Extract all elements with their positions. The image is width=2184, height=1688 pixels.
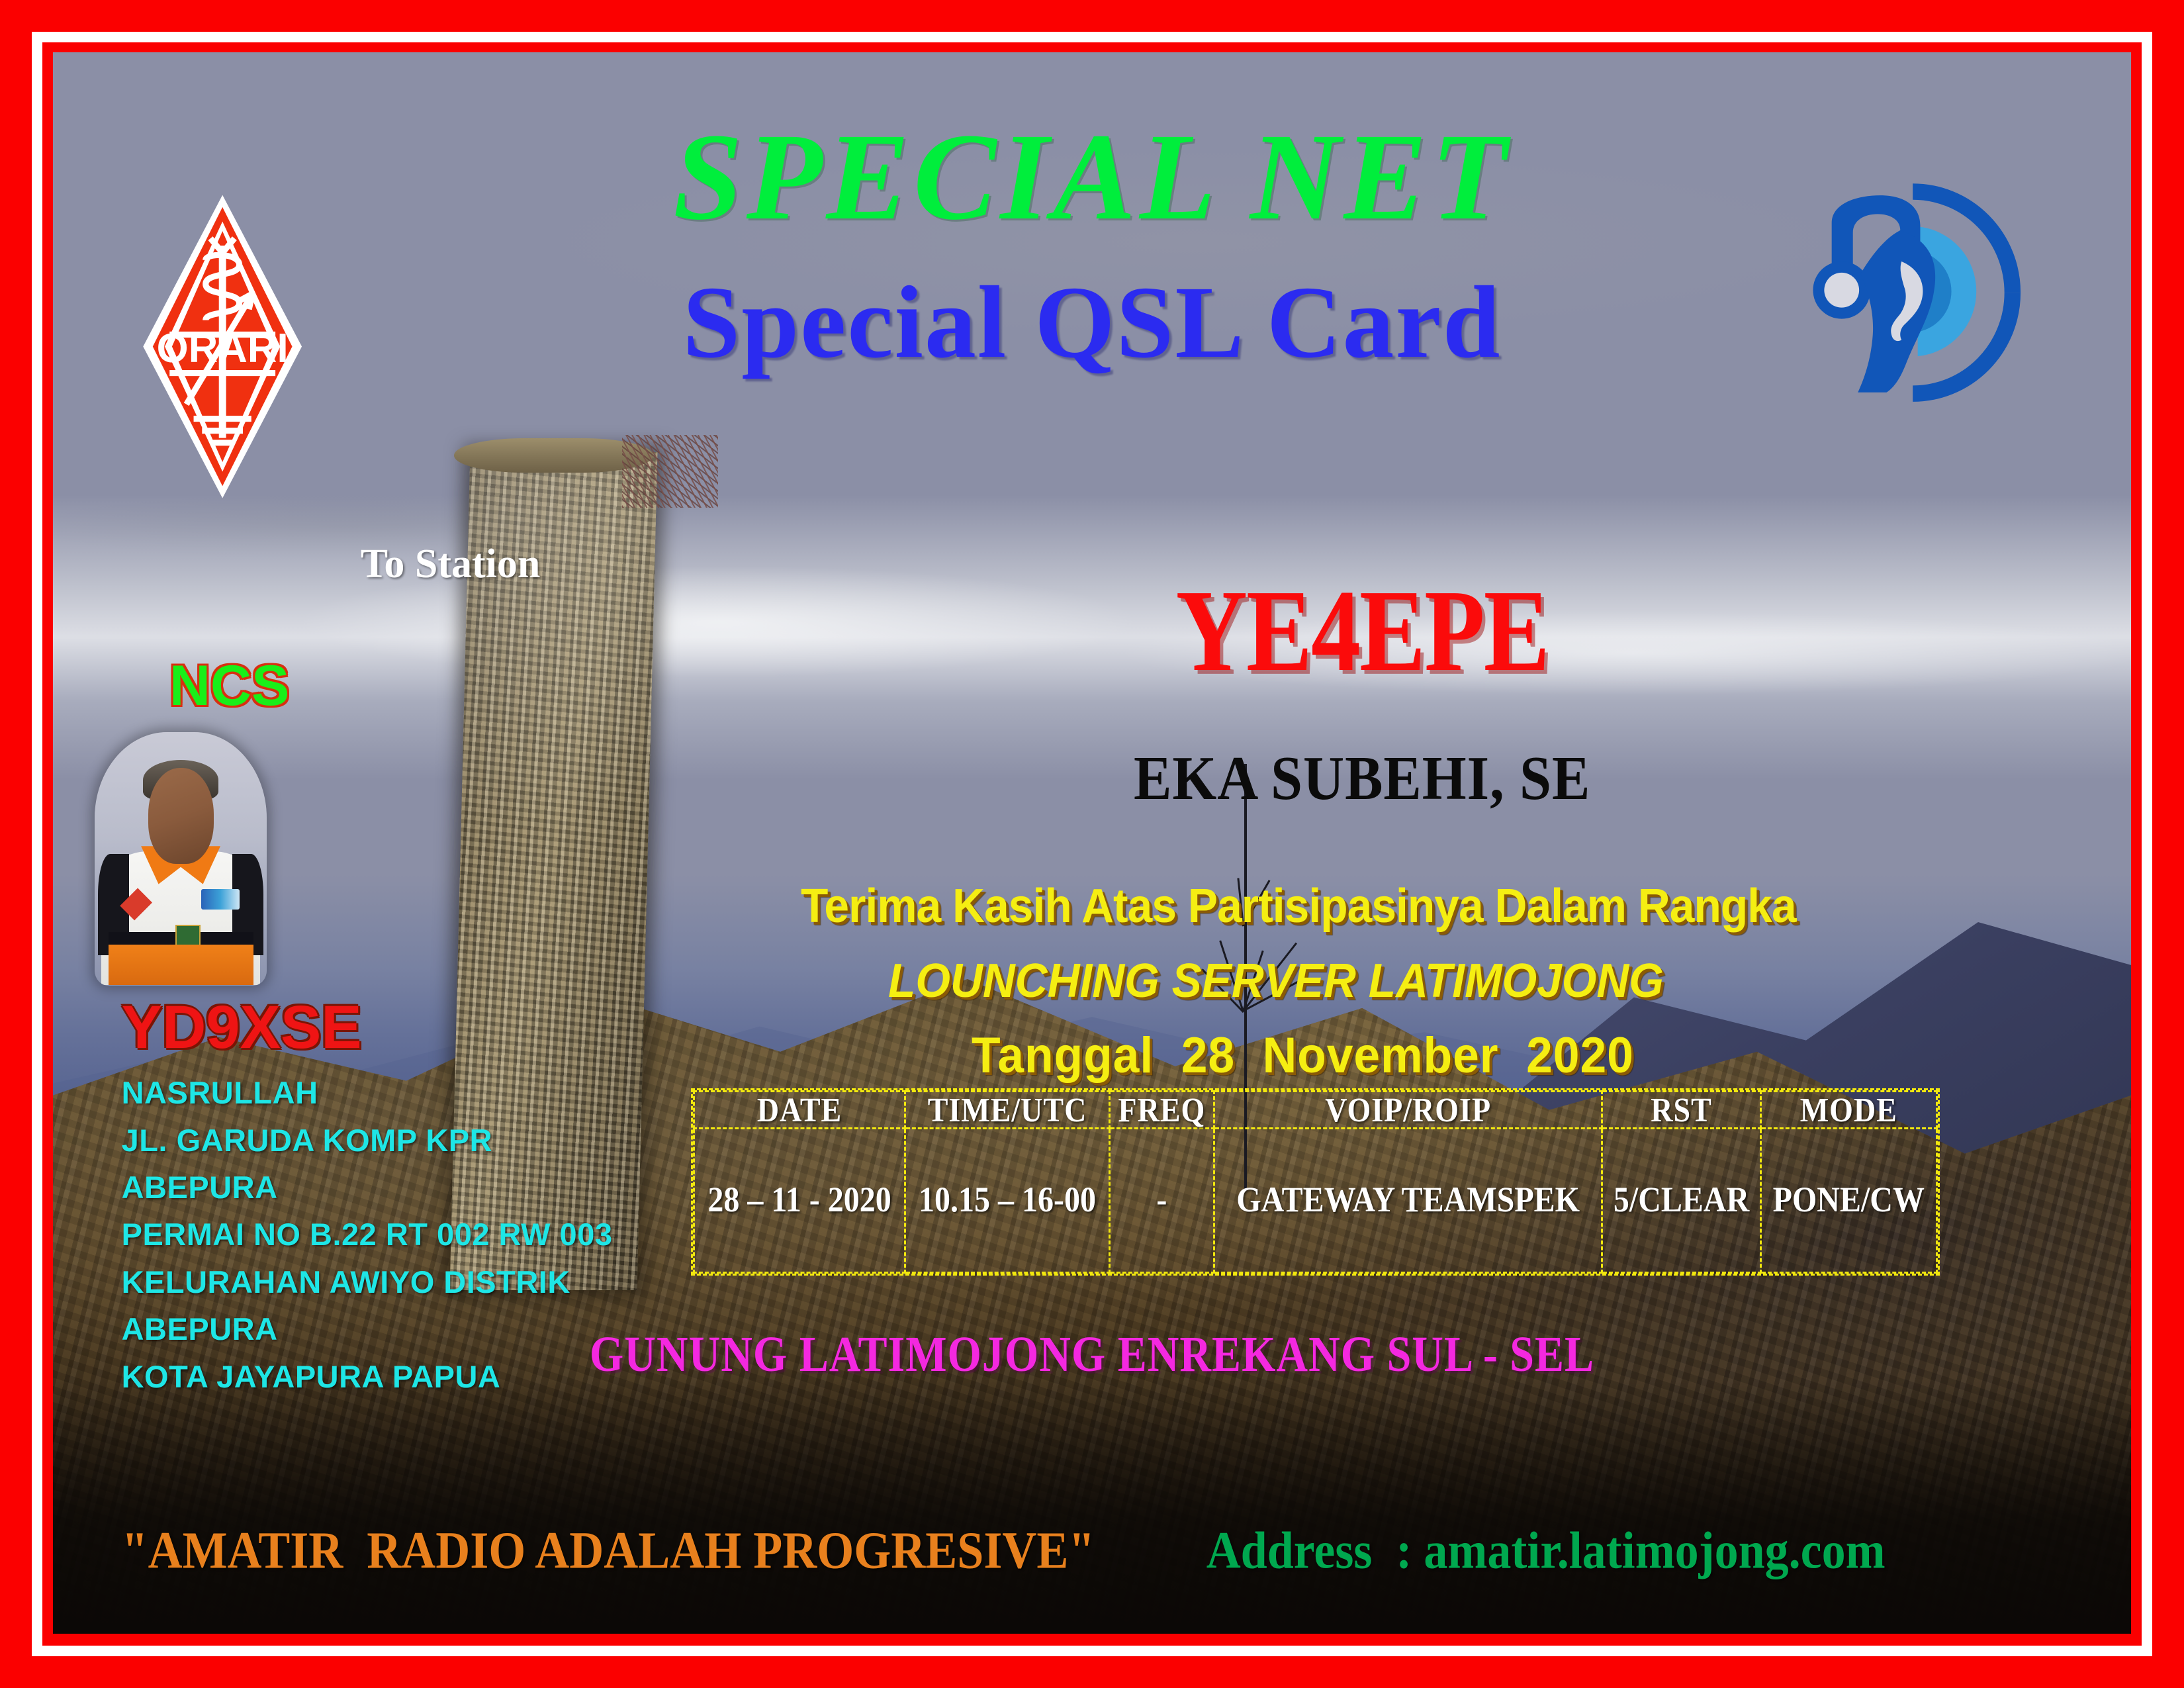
foreground-shadow	[53, 1381, 2131, 1634]
thanks-line-2-event: LOUNCHING SERVER LATIMOJONG	[888, 954, 1904, 1008]
table-row: 28 – 11 - 2020 10.15 – 16-00 - GATEWAY T…	[694, 1128, 1936, 1272]
cell-time-utc: 10.15 – 16-00	[905, 1119, 1110, 1281]
cell-date: 28 – 11 - 2020	[694, 1119, 905, 1281]
location-line: GUNUNG LATIMOJONG ENREKANG SUL - SEL	[53, 1327, 2131, 1384]
thanks-line-3-date: Tanggal 28 November 2020	[972, 1027, 1870, 1084]
ncs-label: NCS	[169, 653, 290, 719]
cell-voip-roip: GATEWAY TEAMSPEK	[1214, 1119, 1602, 1281]
qso-details-table: DATE TIME/UTC FREQ VOIP/ROIP RST MODE 28…	[691, 1088, 1940, 1276]
card-web-address: Address : amatir.latimojong.com	[1206, 1521, 1886, 1581]
cell-mode: PONE/CW	[1760, 1119, 1936, 1281]
card-photo-area: ORARI SPECIAL NET Special QSL Card To St…	[53, 52, 2131, 1634]
thanks-line-1: Terima Kasih Atas Partisipasinya Dalam R…	[801, 879, 1934, 933]
ncs-callsign: YD9XSE	[122, 993, 362, 1062]
summit-pillar-grass-tuft	[622, 435, 717, 508]
qsl-card: ORARI SPECIAL NET Special QSL Card To St…	[0, 0, 2184, 1688]
ncs-operator-photo	[95, 732, 267, 985]
cell-freq: -	[1109, 1119, 1214, 1281]
card-motto: "AMATIR RADIO ADALAH PROGRESIVE"	[122, 1521, 1095, 1581]
card-subtitle-special-qsl-card: Special QSL Card	[53, 263, 2131, 382]
card-title-special-net: SPECIAL NET	[53, 105, 2131, 248]
cell-rst: 5/CLEAR	[1602, 1119, 1760, 1281]
recipient-operator-name: EKA SUBEHI, SE	[968, 741, 1757, 814]
to-station-label: To Station	[361, 541, 541, 588]
recipient-callsign: YE4EPE	[968, 564, 1757, 698]
